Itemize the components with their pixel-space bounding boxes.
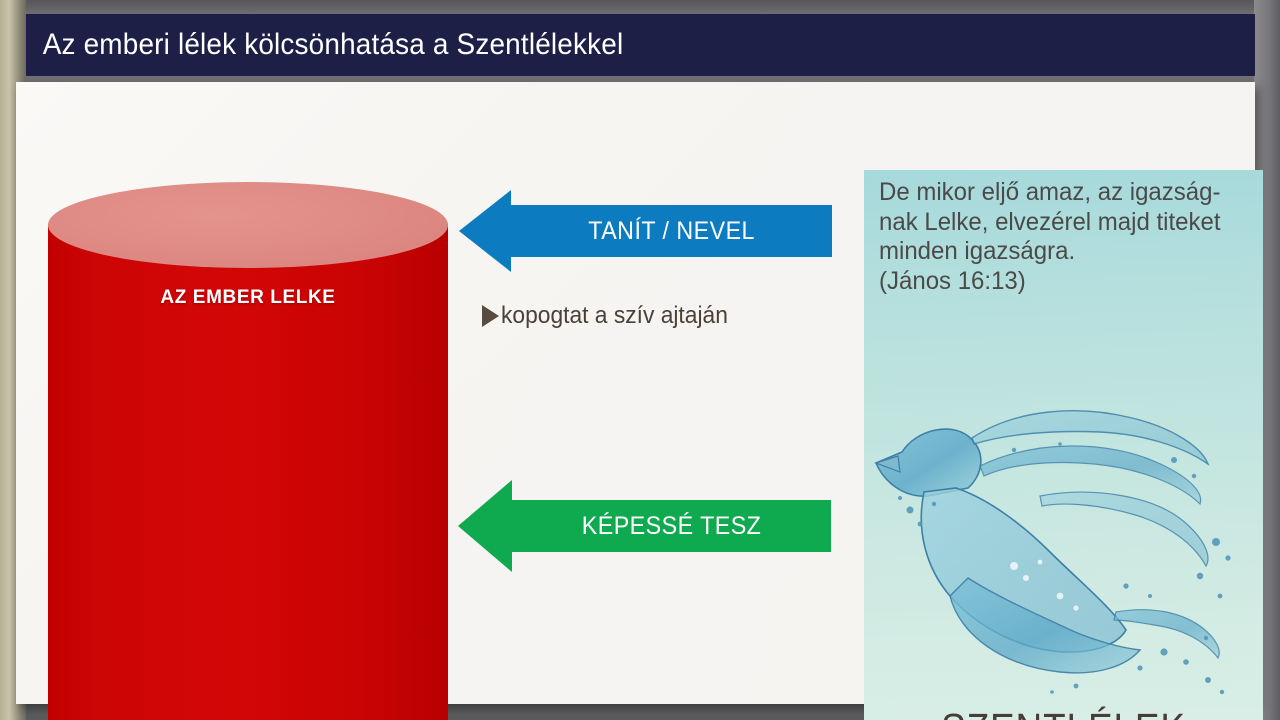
arrow-teach-label: TANÍT / NEVEL xyxy=(588,217,755,246)
arrow-head-left-icon xyxy=(458,480,512,572)
arrow-shaft: TANÍT / NEVEL xyxy=(511,205,832,257)
water-splash-bird-image xyxy=(864,400,1263,720)
bible-verse-text: De mikor eljő amaz, az igazság- nak Lelk… xyxy=(879,178,1244,296)
arrow-shaft: KÉPESSÉ TESZ xyxy=(512,500,831,552)
arrow-enable-label: KÉPESSÉ TESZ xyxy=(582,512,762,541)
arrow-enable: KÉPESSÉ TESZ xyxy=(458,480,831,572)
holy-spirit-card: De mikor eljő amaz, az igazság- nak Lelk… xyxy=(864,170,1263,720)
slide-title: Az emberi lélek kölcsönhatása a Szentlél… xyxy=(26,28,623,62)
slide-content-panel: AZ EMBER LELKE TANÍT / NEVEL kopogtat a … xyxy=(16,82,1255,704)
spirit-caption: SZENTLÉLEK xyxy=(884,705,1243,720)
human-soul-cylinder: AZ EMBER LELKE xyxy=(48,182,448,720)
cylinder-top-ellipse xyxy=(48,182,448,268)
cylinder-label: AZ EMBER LELKE xyxy=(48,287,448,309)
bullet-knocks-on-heart-door: kopogtat a szív ajtaján xyxy=(482,302,740,330)
title-banner: Az emberi lélek kölcsönhatása a Szentlél… xyxy=(26,14,1255,76)
triangle-right-icon xyxy=(482,305,499,327)
bullet-text: kopogtat a szív ajtaján xyxy=(501,302,728,330)
arrow-head-left-icon xyxy=(459,190,511,272)
arrow-teach: TANÍT / NEVEL xyxy=(459,190,832,272)
slide-frame: Az emberi lélek kölcsönhatása a Szentlél… xyxy=(0,0,1280,720)
